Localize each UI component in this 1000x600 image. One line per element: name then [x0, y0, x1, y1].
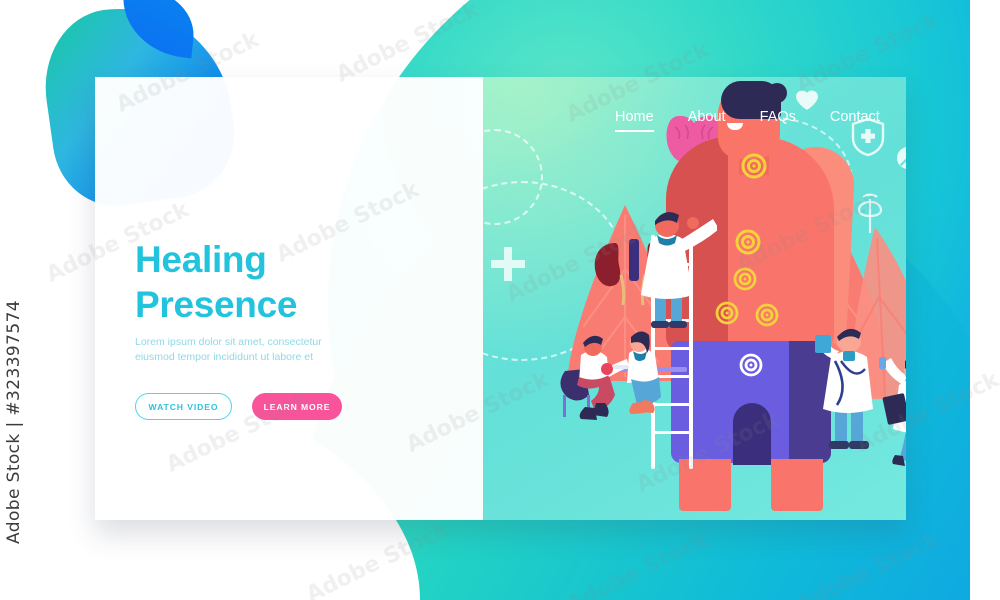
target-marker-thymus — [735, 229, 761, 255]
figure-right-leg — [771, 459, 823, 511]
doctor-with-tablet — [813, 317, 885, 457]
headline-line-1: Healing — [135, 237, 435, 282]
figure-hair-bun — [767, 83, 787, 103]
nav-item-contact[interactable]: Contact — [830, 109, 880, 132]
learn-more-button[interactable]: LEARN MORE — [252, 393, 342, 420]
headline-line-2: Presence — [135, 282, 435, 327]
doctor-on-ladder — [633, 205, 717, 333]
nav-item-about[interactable]: About — [688, 109, 726, 132]
main-navigation: Home About FAQs Contact — [615, 109, 880, 132]
page-title: Healing Presence — [135, 237, 435, 327]
hero-button-row: WATCH VIDEO LEARN MORE — [135, 393, 342, 420]
target-marker-gonads — [739, 353, 763, 377]
screenshot-root: Healing Presence Lorem ipsum dolor sit a… — [0, 0, 1000, 600]
hero-illustration — [483, 77, 906, 520]
nav-item-faqs[interactable]: FAQs — [760, 109, 796, 132]
background-right-white-strip — [970, 0, 1000, 600]
watch-video-button[interactable]: WATCH VIDEO — [135, 393, 232, 420]
nav-item-home[interactable]: Home — [615, 109, 654, 132]
target-marker-thyroid — [741, 153, 767, 179]
figure-left-leg — [679, 459, 731, 511]
hero-card: Healing Presence Lorem ipsum dolor sit a… — [95, 77, 906, 520]
pill-icon — [895, 145, 906, 171]
target-marker-kidney — [755, 303, 779, 327]
female-doctor-with-clipboard — [877, 351, 906, 471]
stock-watermark-vertical: Adobe Stock | #323397574 — [4, 300, 24, 544]
target-marker-adrenal — [733, 267, 757, 291]
medical-cross-icon — [491, 247, 525, 281]
consultation-scene — [555, 319, 687, 429]
figure-shorts-inseam — [733, 403, 771, 465]
ladder-step — [651, 431, 693, 434]
hero-subtext: Lorem ipsum dolor sit amet, consectetur … — [135, 335, 350, 365]
target-marker-pancreas — [715, 301, 739, 325]
heart-icon — [795, 89, 819, 111]
